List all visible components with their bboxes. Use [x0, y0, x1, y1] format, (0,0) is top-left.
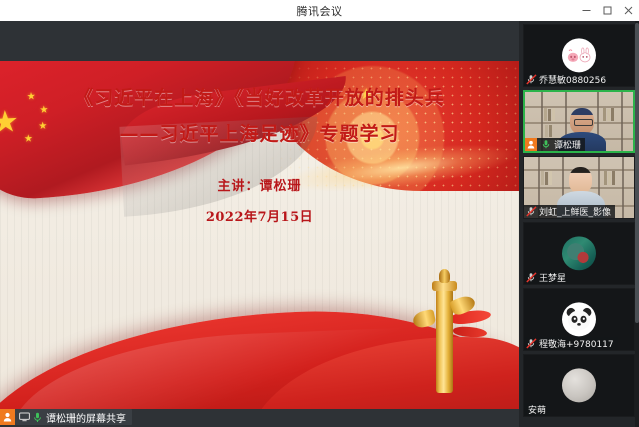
avatar: [562, 302, 596, 336]
participant-name: 谭松珊: [554, 138, 581, 151]
mic-muted-icon: [525, 205, 538, 218]
avatar: [562, 236, 596, 270]
slide-presenter: 主讲：谭松珊: [0, 175, 519, 194]
minimize-button[interactable]: [576, 0, 597, 21]
close-button[interactable]: [618, 0, 639, 21]
mic-on-icon: [540, 138, 553, 151]
participant-name: 程敬海+9780117: [539, 337, 614, 350]
mic-muted-icon: [525, 337, 538, 350]
slide-text-block: 《习近平在上海》《当好改革开放的排头兵 ——习近平上海足迹》专题学习 主讲：谭松…: [0, 61, 519, 409]
host-badge-icon: [525, 138, 537, 151]
slide-date: 2022年7月15日: [0, 206, 519, 225]
participant-tile[interactable]: 乔慧敏0880256: [523, 24, 635, 87]
participant-name: 刘虹_上鲜医_影像: [539, 205, 611, 218]
participant-label: 安萌: [524, 403, 550, 416]
avatar: [562, 38, 596, 72]
window-titlebar: 腾讯会议: [0, 0, 639, 22]
shared-screen-stage[interactable]: ★ ★ ★ ★ ★ ★ 《习近平在上海》: [0, 21, 519, 427]
participant-label: 程敬海+9780117: [524, 337, 618, 350]
participant-tile[interactable]: 程敬海+9780117: [523, 288, 635, 351]
participant-label: 刘虹_上鲜医_影像: [524, 205, 615, 218]
slide-title-line-2: ——习近平上海足迹》专题学习: [0, 119, 519, 146]
participant-label: 谭松珊: [525, 138, 585, 151]
maximize-button[interactable]: [597, 0, 618, 21]
slide-title-line-1: 《习近平在上海》《当好改革开放的排头兵: [0, 83, 519, 110]
host-badge-icon: [0, 409, 15, 425]
presentation-slide: ★ ★ ★ ★ ★ ★ 《习近平在上海》: [0, 61, 519, 409]
monitor-icon: [19, 412, 30, 422]
screen-share-indicator-bar: 谭松珊的屏幕共享: [0, 407, 519, 427]
screen-share-chip: 谭松珊的屏幕共享: [0, 409, 132, 425]
participant-tile[interactable]: 王梦星: [523, 222, 635, 285]
participant-tile[interactable]: 安萌: [523, 354, 635, 417]
participant-name: 安萌: [524, 403, 546, 416]
avatar: [562, 368, 596, 402]
participant-label: 乔慧敏0880256: [524, 73, 610, 86]
screen-share-label: 谭松珊的屏幕共享: [46, 410, 126, 425]
participant-scrollbar-track[interactable]: [635, 21, 639, 427]
participant-video-strip[interactable]: 乔慧敏0880256: [519, 21, 639, 427]
participant-label: 王梦星: [524, 271, 570, 284]
participant-name: 王梦星: [539, 271, 566, 284]
window-title: 腾讯会议: [297, 3, 343, 19]
tencent-meeting-window: 腾讯会议 ★ ★ ★ ★ ★: [0, 0, 639, 427]
participant-tile[interactable]: 刘虹_上鲜医_影像: [523, 156, 635, 219]
participant-scrollbar-thumb[interactable]: [635, 23, 639, 323]
mic-muted-icon: [525, 271, 538, 284]
participant-tile[interactable]: 谭松珊: [523, 90, 635, 153]
window-controls: [576, 0, 639, 21]
mic-muted-icon: [525, 73, 538, 86]
participant-tiles: 乔慧敏0880256: [519, 21, 639, 420]
participant-name: 乔慧敏0880256: [539, 73, 606, 86]
mic-on-icon: [33, 412, 42, 423]
